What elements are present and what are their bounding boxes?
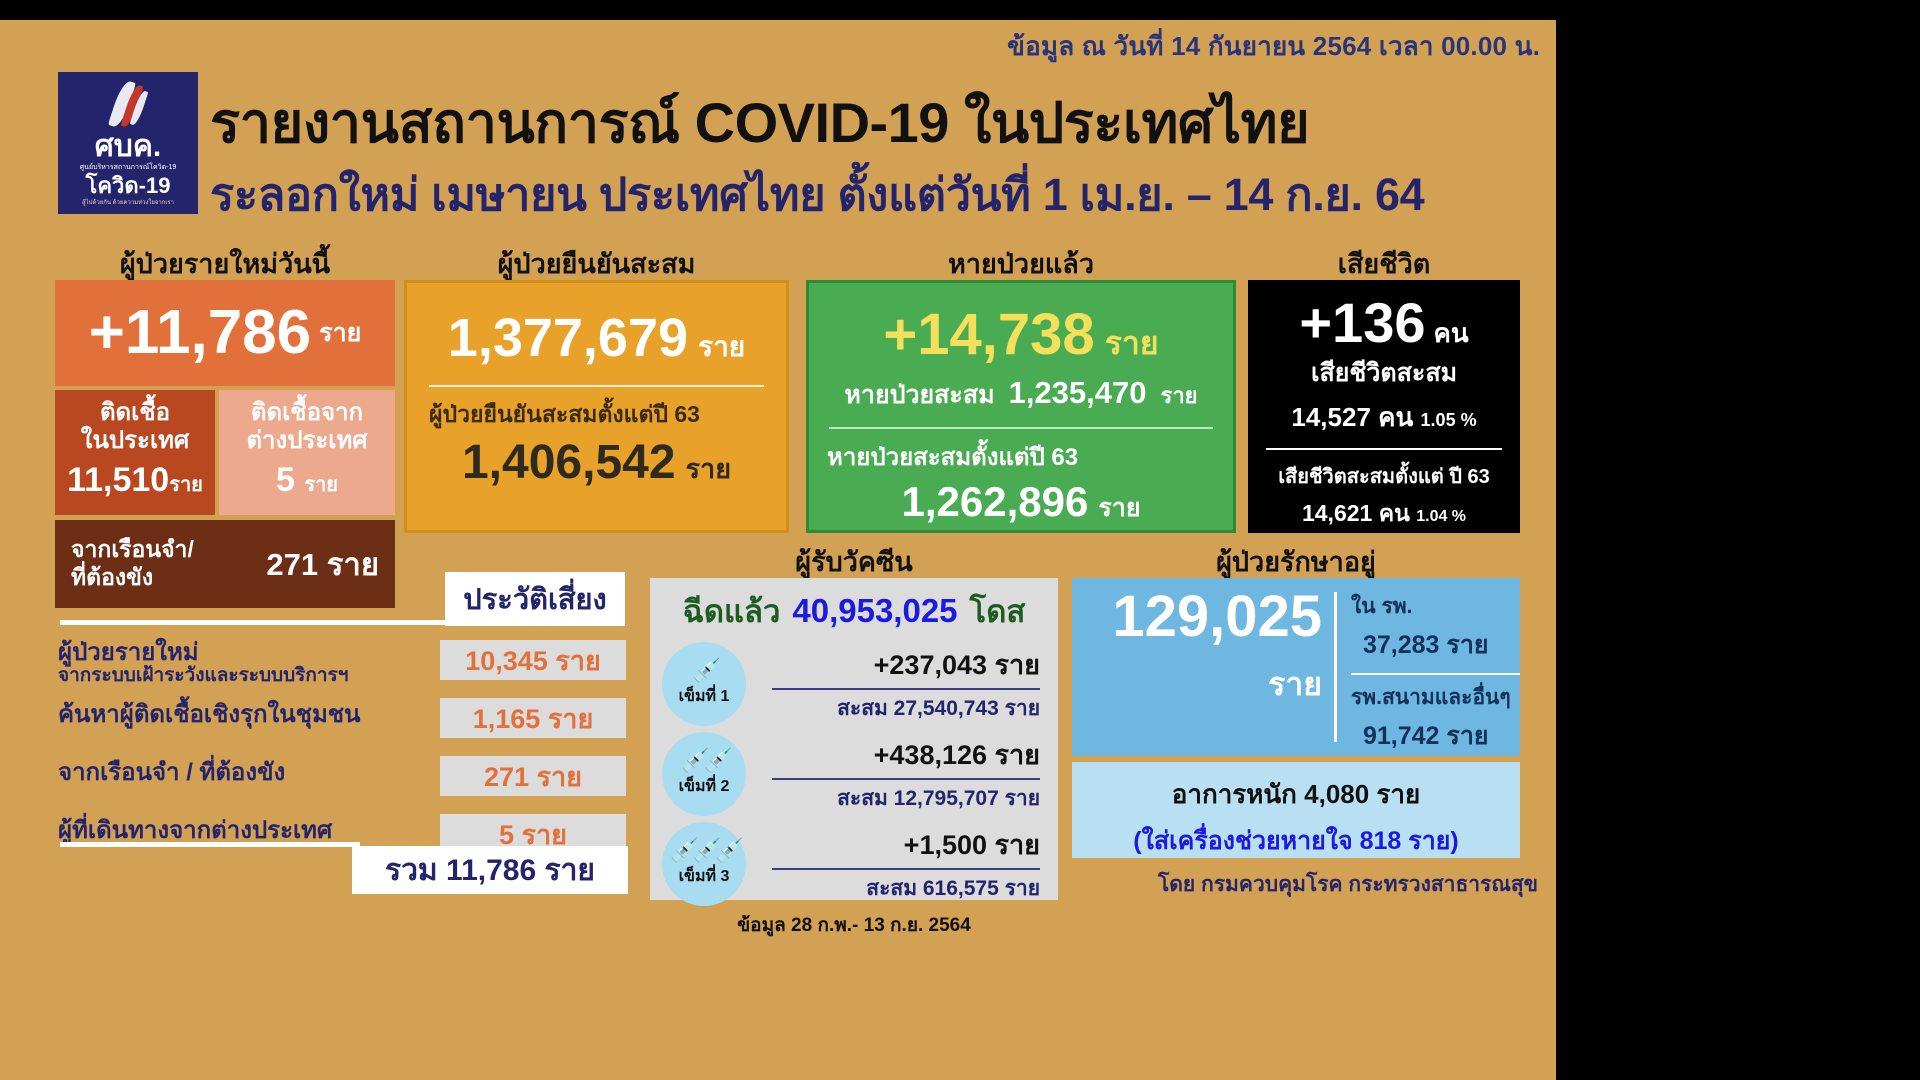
risk-total: รวม 11,786 ราย [352,846,628,894]
syringe-triple-icon: 💉💉💉 เข็มที่ 3 [662,822,746,906]
new-cases-heading: ผู้ป่วยรายใหม่วันนี้ [55,242,395,285]
in-hospital-value: 37,283 ราย [1363,625,1520,665]
syringe-glyph-1: 💉 [693,659,716,682]
active-patients-total: 129,025 ราย [1072,578,1334,756]
logo-subtitle: ศูนย์บริหารสถานการณ์โควิด-19 [80,164,177,172]
screenshot-canvas: ข้อมูล ณ วันที่ 14 กันยายน 2564 เวลา 00.… [0,0,1920,1080]
recovered-unit: ราย [1105,318,1159,369]
active-patients-card: 129,025 ราย ใน รพ. 37,283 ราย รพ.สนามและ… [1072,578,1520,756]
imported-label-line1: ติดเชื้อจาก [219,399,395,427]
imported-value-group: 5 ราย [219,461,395,500]
prison-unit: ราย [327,547,379,582]
risk-value-1: 1,165 ราย [440,698,626,738]
recovered-cumulative-unit: ราย [1161,378,1198,413]
recovered-since-2563-value: 1,262,896 [902,478,1089,526]
page-subtitle: ระลอกใหม่ เมษายน ประเทศไทย ตั้งแต่วันที่… [210,158,1424,230]
dose-badge-label-3: เข็มที่ 3 [679,864,730,889]
confirmed-since-2563-unit: ราย [686,447,731,490]
imported-cases-card: ติดเชื้อจาก ต่างประเทศ 5 ราย [219,390,395,515]
recovered-cumulative-label: หายป่วยสะสม [844,375,994,415]
domestic-value: 11,510 [67,461,169,499]
ventilator-cases-label: (ใส่เครื่องช่วยหายใจ 818 ราย) [1072,821,1520,861]
vaccine-panel: ฉีดแล้ว 40,953,025 โดส 💉 เข็มที่ 1 +237,… [650,578,1058,900]
dose-figures-2: +438,126 ราย สะสม 12,795,707 ราย [746,733,1046,815]
risk-label-main-1: ค้นหาผู้ติดเชื้อเชิงรุกในชุมชน [58,702,360,728]
vaccine-injected-unit: โดส [970,586,1026,636]
risk-label-1: ค้นหาผู้ติดเชื้อเชิงรุกในชุมชน [58,702,360,728]
active-patients-value: 129,025 [1072,588,1322,646]
field-hospital-value: 91,742 ราย [1363,716,1520,756]
active-patients-divider [1351,673,1520,675]
domestic-value-group: 11,510ราย [55,461,215,500]
logo-name: โควิด-19 [86,175,171,197]
dose-badge-label-2: เข็มที่ 2 [679,774,730,799]
imported-unit: ราย [304,474,338,496]
risk-label-3: ผู้ที่เดินทางจากต่างประเทศ [58,818,332,844]
deaths-heading: เสียชีวิต [1248,242,1520,285]
domestic-label-line1: ติดเชื้อ [55,399,215,427]
vaccine-injected-label: ฉีดแล้ว [683,586,781,636]
confirmed-since-2563-label: ผู้ป่วยยืนยันสะสมตั้งแต่ปี 63 [429,397,786,433]
risk-label-main-3: ผู้ที่เดินทางจากต่างประเทศ [58,818,332,844]
syringe-glyph-3: 💉💉💉 [670,839,738,862]
page-title: รายงานสถานการณ์ COVID-19 ในประเทศไทย [210,78,1309,167]
deaths-cumulative-value: 14,527 คน [1291,402,1413,432]
severe-cases-label: อาการหนัก 4,080 ราย [1072,774,1520,815]
confirmed-cumulative-value: 1,377,679 [448,307,688,369]
risk-label-main-0: ผู้ป่วยรายใหม่ [58,640,348,666]
dose-cumulative-1: สะสม 27,540,743 ราย [746,692,1040,725]
deaths-divider [1266,448,1502,450]
deaths-value: +136 [1299,290,1425,355]
dose-figures-3: +1,500 ราย สะสม 616,575 ราย [746,823,1046,905]
confirmed-divider [429,385,764,387]
recovered-card: +14,738 ราย หายป่วยสะสม 1,235,470 ราย หา… [806,280,1236,533]
vaccine-dose-row-3: 💉💉💉 เข็มที่ 3 +1,500 ราย สะสม 616,575 รา… [662,822,1046,906]
dose-divider-1 [772,688,1040,690]
risk-value-2: 271 ราย [440,756,626,796]
deaths-since-2563-group: 14,621 คน 1.04 % [1248,496,1520,532]
in-hospital-label: ใน รพ. [1351,590,1520,623]
syringe-glyph-2: 💉💉 [681,749,726,772]
dose-badge-label-1: เข็มที่ 1 [679,684,730,709]
domestic-cases-card: ติดเชื้อ ในประเทศ 11,510ราย [55,390,215,515]
dose-today-1: +237,043 ราย [746,643,1040,686]
logo-tagline: สู้ไปด้วยกัน ด้วยความห่วงใยจากเรา [82,200,174,207]
risk-label-sub-0: จากระบบเฝ้าระวังและระบบบริการฯ [58,666,348,687]
new-cases-value-card: +11,786 ราย [55,280,395,386]
confirmed-cumulative-heading: ผู้ป่วยยืนยันสะสม [404,242,789,285]
recovered-cumulative-value: 1,235,470 [1009,375,1147,411]
vaccine-heading: ผู้รับวัคซีน [650,540,1058,583]
domestic-unit: ราย [169,474,203,496]
prison-value: 271 [266,547,318,582]
credit-line: โดย กรมควบคุมโรค กระทรวงสาธารณสุข [1158,868,1538,901]
confirmed-cumulative-card: 1,377,679 ราย ผู้ป่วยยืนยันสะสมตั้งแต่ปี… [404,280,789,533]
prison-value-group: 271 ราย [266,539,379,589]
recovered-value: +14,738 [883,301,1094,368]
deaths-cumulative-label: เสียชีวิตสะสม [1248,353,1520,393]
dose-cumulative-3: สะสม 616,575 ราย [746,872,1040,905]
as-of-date: ข้อมูล ณ วันที่ 14 กันยายน 2564 เวลา 00.… [1007,26,1540,67]
deaths-cumulative-group: 14,527 คน 1.05 % [1248,397,1520,438]
vaccine-footnote: ข้อมูล 28 ก.พ.- 13 ก.ย. 2564 [662,910,1046,940]
new-cases-unit: ราย [319,313,361,353]
severe-cases-card: อาการหนัก 4,080 ราย (ใส่เครื่องช่วยหายใจ… [1072,762,1520,858]
risk-label-2: จากเรือนจำ / ที่ต้องขัง [58,760,285,786]
recovered-heading: หายป่วยแล้ว [806,242,1236,285]
logo-acronym: ศบค. [95,132,162,162]
risk-label-main-2: จากเรือนจำ / ที่ต้องขัง [58,760,285,786]
new-cases-value: +11,786 [89,302,311,364]
deaths-cumulative-pct: 1.05 % [1421,410,1477,430]
imported-label-line2: ต่างประเทศ [219,427,395,455]
deaths-card: +136 คน เสียชีวิตสะสม 14,527 คน 1.05 % เ… [1248,280,1520,533]
prison-label: จากเรือนจำ/ ที่ต้องขัง [71,536,194,591]
dose-figures-1: +237,043 ราย สะสม 27,540,743 ราย [746,643,1046,725]
recovered-since-2563-label: หายป่วยสะสมตั้งแต่ปี 63 [827,437,1233,476]
active-patients-heading: ผู้ป่วยรักษาอยู่ [1072,540,1520,583]
imported-value: 5 [276,461,295,499]
deaths-since-2563-value: 14,621 คน [1302,500,1410,526]
ccsa-logo: ศบค. ศูนย์บริหารสถานการณ์โควิด-19 โควิด-… [58,72,198,214]
recovered-since-2563-unit: ราย [1098,488,1140,528]
dose-cumulative-2: สะสม 12,795,707 ราย [746,782,1040,815]
field-hospital-label: รพ.สนามและอื่นๆ [1351,681,1520,714]
risk-total-rule [60,842,360,847]
deaths-since-2563-pct: 1.04 % [1416,508,1466,525]
vaccine-dose-row-1: 💉 เข็มที่ 1 +237,043 ราย สะสม 27,540,743… [662,642,1046,726]
recovered-divider [829,427,1213,429]
prison-label-line2: ที่ต้องขัง [71,564,153,590]
syringe-single-icon: 💉 เข็มที่ 1 [662,642,746,726]
covid-dashboard-poster: ข้อมูล ณ วันที่ 14 กันยายน 2564 เวลา 00.… [0,20,1556,1080]
deaths-since-2563-label: เสียชีวิตสะสมตั้งแต่ ปี 63 [1248,460,1520,492]
dose-today-3: +1,500 ราย [746,823,1040,866]
dose-today-2: +438,126 ราย [746,733,1040,776]
dose-divider-2 [772,778,1040,780]
risk-label-0: ผู้ป่วยรายใหม่ จากระบบเฝ้าระวังและระบบบร… [58,640,348,687]
deaths-unit: คน [1433,313,1468,354]
prison-cases-card: จากเรือนจำ/ ที่ต้องขัง 271 ราย [55,520,395,608]
active-patients-unit: ราย [1072,668,1322,700]
syringe-double-icon: 💉💉 เข็มที่ 2 [662,732,746,816]
confirmed-since-2563-value: 1,406,542 [462,435,676,490]
risk-history-tag: ประวัติเสี่ยง [445,572,625,626]
confirmed-cumulative-unit: ราย [698,325,745,369]
risk-value-0: 10,345 ราย [440,640,626,680]
domestic-label-line2: ในประเทศ [55,427,215,455]
flame-icon [101,78,155,130]
prison-label-line1: จากเรือนจำ/ [71,536,194,562]
vaccine-dose-row-2: 💉💉 เข็มที่ 2 +438,126 ราย สะสม 12,795,70… [662,732,1046,816]
vaccine-injected-value: 40,953,025 [792,592,957,630]
active-patients-breakdown: ใน รพ. 37,283 ราย รพ.สนามและอื่นๆ 91,742… [1337,578,1520,756]
dose-divider-3 [772,868,1040,870]
